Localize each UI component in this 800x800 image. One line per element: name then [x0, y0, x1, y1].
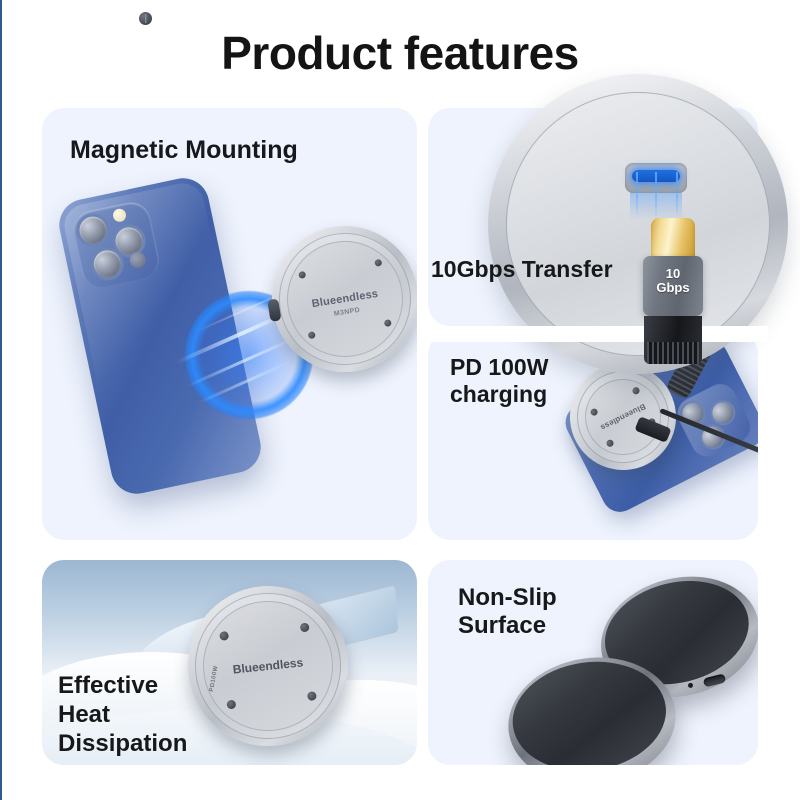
disc-inner-ring: [506, 92, 770, 356]
screw-icon: [308, 331, 316, 339]
page-title: Product features: [0, 26, 800, 80]
product-features-page: Product features Magnetic Mounting: [0, 0, 800, 800]
left-edge-rule: [0, 0, 2, 800]
feature-label-heat-dissipation: Effective Heat Dissipation: [58, 672, 187, 758]
feature-card-heat-dissipation: Blueendless PD100W Effective Heat Dissip…: [42, 560, 417, 765]
feature-label-transfer: 10Gbps Transfer: [428, 256, 758, 283]
screw-icon: [384, 319, 392, 327]
feature-label-magnetic-mounting: Magnetic Mounting: [70, 136, 298, 165]
screw-icon: [298, 271, 306, 279]
usb-c-tip: [651, 218, 695, 260]
camera-lens-icon: [77, 214, 109, 246]
product-brand-text: Blueendless: [203, 652, 334, 680]
screw-icon: [307, 691, 317, 701]
feature-label-pd-charging: PD 100W charging: [450, 354, 548, 408]
usb-c-cable-base: [644, 316, 702, 364]
charger-disc-on-snow: Blueendless PD100W: [180, 578, 356, 754]
usb-c-connector: 10 Gbps: [643, 218, 703, 364]
screw-icon: [589, 407, 598, 416]
screw-icon: [605, 439, 614, 448]
indicator-led-icon: [687, 682, 693, 688]
charger-disc-front: Blueendless M3NPD: [261, 215, 417, 382]
camera-lens-icon: [91, 248, 123, 280]
card-gap-mask: [428, 326, 768, 342]
feature-card-non-slip: Non-Slip Surface: [428, 560, 758, 765]
phone-camera-module: [70, 199, 163, 292]
screw-icon: [631, 386, 640, 395]
screw-icon: [374, 259, 382, 267]
screw-icon: [226, 700, 236, 710]
usb-c-port: [703, 673, 727, 687]
beam-line: [655, 172, 657, 220]
screw-icon: [139, 12, 152, 25]
screw-icon: [300, 623, 310, 633]
screw-icon: [219, 631, 229, 641]
camera-lens-icon: [709, 399, 737, 427]
beam-line: [636, 172, 638, 218]
feature-label-non-slip: Non-Slip Surface: [458, 584, 557, 641]
beam-line: [676, 172, 678, 218]
camera-flash-icon: [112, 208, 127, 223]
lidar-sensor-icon: [128, 250, 147, 269]
feature-card-magnetic-mounting: Magnetic Mounting Blueendless: [42, 108, 417, 540]
